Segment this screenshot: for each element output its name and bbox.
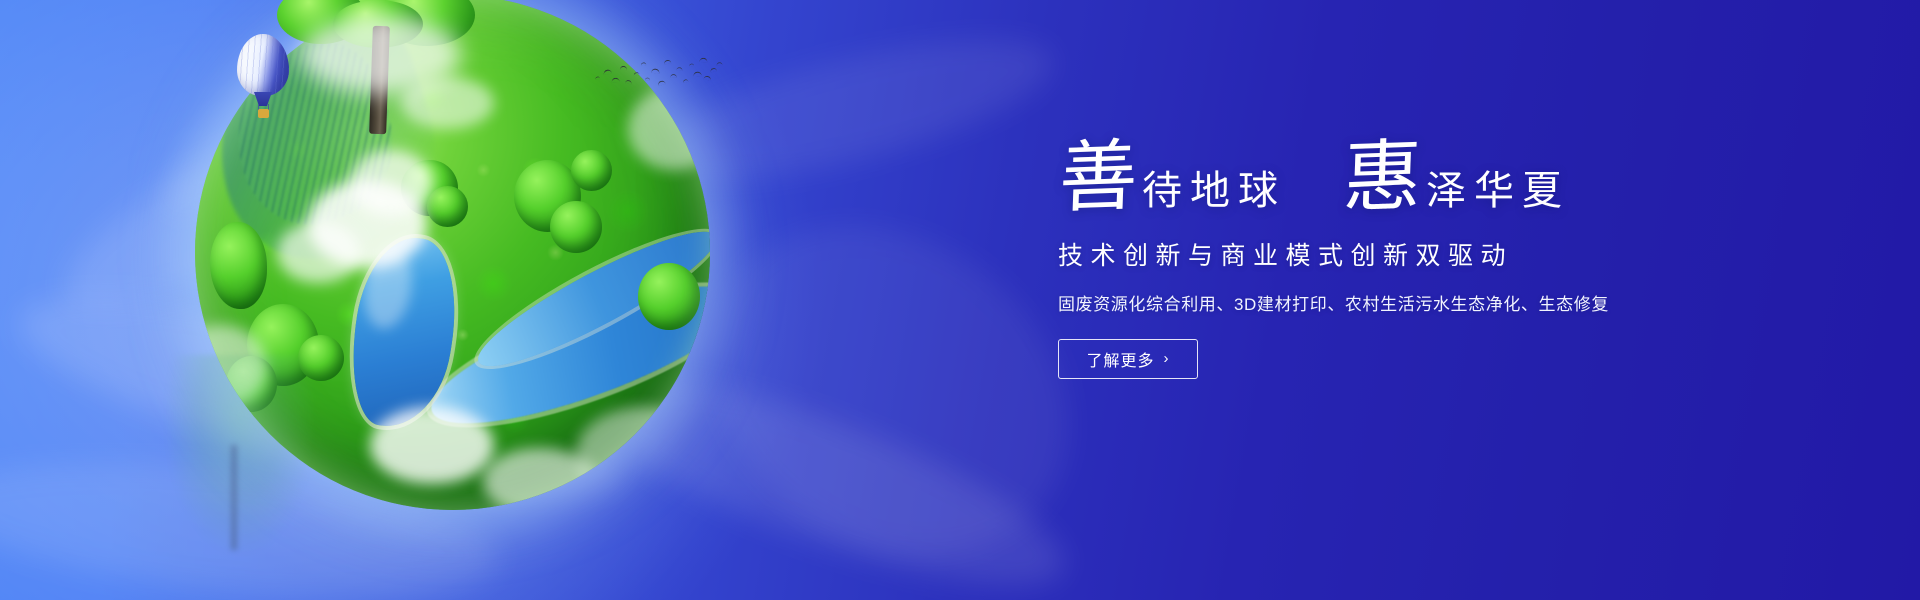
bird-icon [645, 78, 650, 81]
bird-icon [595, 76, 601, 80]
bird-icon [651, 68, 660, 74]
hero-banner: 善 待地球 惠 泽华夏 技术创新与商业模式创新双驱动 固废资源化综合利用、3D建… [0, 0, 1920, 600]
bird-icon [641, 62, 647, 66]
bird-icon [682, 79, 688, 84]
ghost-tree-icon [165, 355, 315, 555]
bird-icon [699, 57, 707, 62]
bird-icon [611, 77, 619, 82]
bird-flock-icon [592, 50, 722, 92]
subtitle: 技术创新与商业模式创新双驱动 [1058, 236, 1838, 272]
bird-icon [716, 62, 722, 66]
bird-icon [689, 63, 694, 67]
description: 固废资源化综合利用、3D建材打印、农村生活污水生态净化、生态修复 [1058, 290, 1838, 315]
headline-char-primary: 善 [1058, 142, 1139, 216]
ghost-tree-trunk [231, 445, 237, 550]
headline-char-secondary: 惠 [1342, 142, 1423, 216]
hot-air-balloon-icon [237, 34, 289, 122]
bird-icon [603, 69, 612, 75]
chevron-right-icon: › [1164, 351, 1170, 366]
hero-copy-block: 善 待地球 惠 泽华夏 技术创新与商业模式创新双驱动 固废资源化综合利用、3D建… [1058, 128, 1838, 379]
bird-icon [704, 75, 712, 80]
large-tree-icon [275, 0, 475, 132]
learn-more-label: 了解更多 [1086, 347, 1154, 371]
headline-text-secondary: 泽华夏 [1426, 171, 1570, 216]
balloon-basket [258, 109, 269, 118]
bird-icon [670, 74, 677, 78]
bird-icon [625, 80, 632, 85]
mist-overlay [301, 16, 461, 94]
bird-icon [664, 59, 672, 64]
headline-text-primary: 待地球 [1142, 171, 1286, 216]
learn-more-button[interactable]: 了解更多 › [1058, 339, 1198, 379]
bird-icon [620, 66, 627, 71]
bird-icon [693, 71, 702, 76]
bird-icon [710, 67, 717, 72]
bird-icon [676, 67, 682, 71]
bird-icon [657, 80, 666, 86]
balloon-ribs [237, 34, 289, 96]
page-title: 善 待地球 惠 泽华夏 [1058, 128, 1838, 216]
bird-icon [633, 72, 640, 77]
